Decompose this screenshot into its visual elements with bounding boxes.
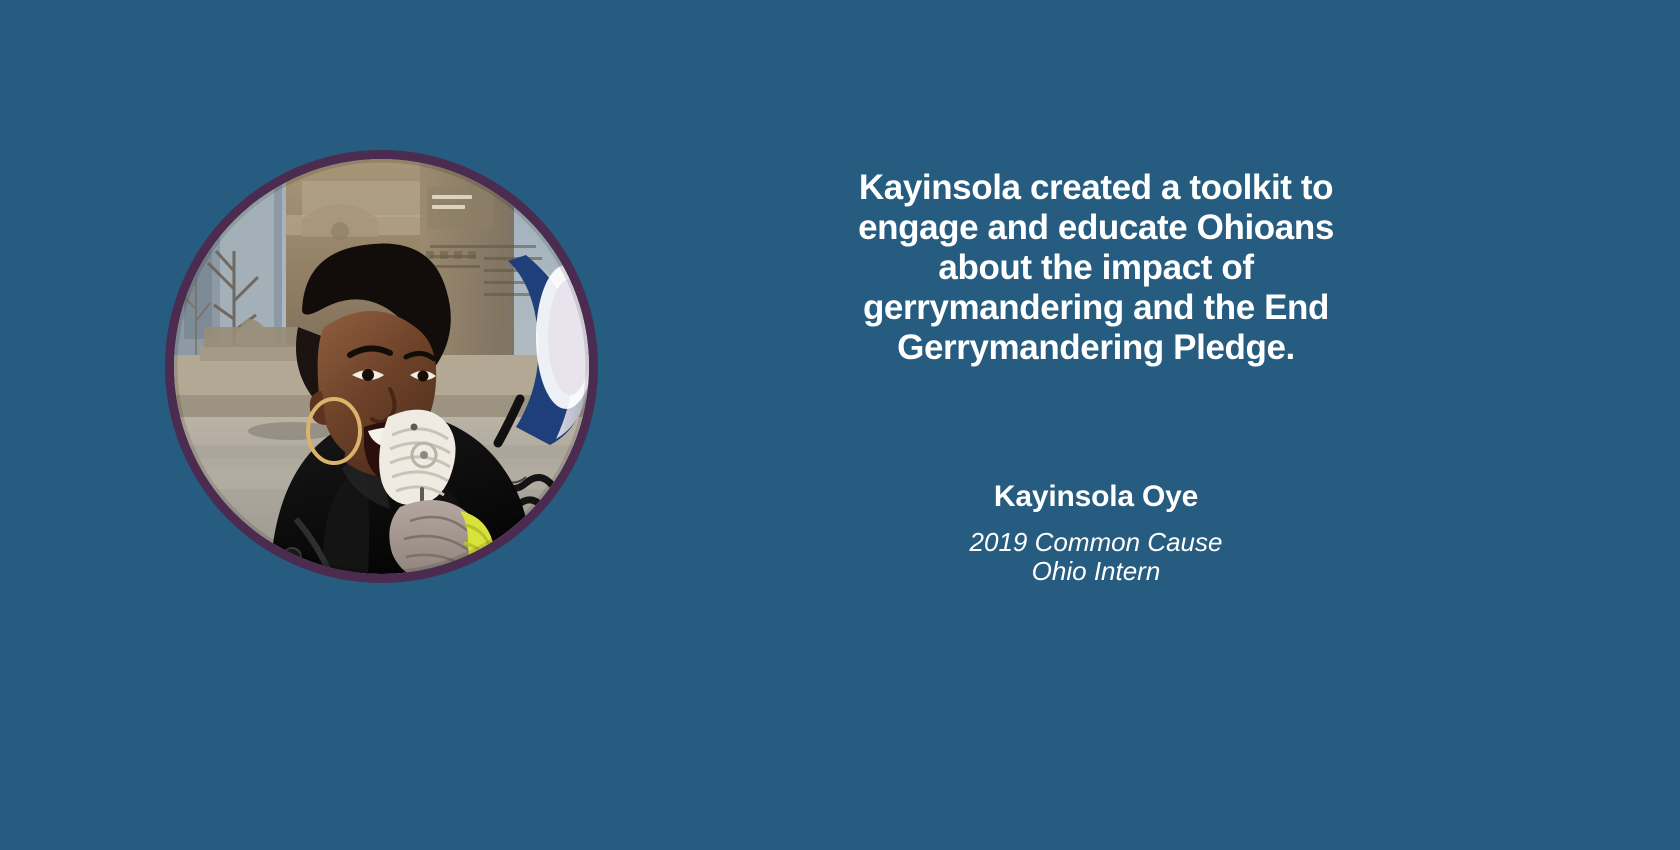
- quote-block: Kayinsola created a toolkit to engage an…: [800, 168, 1392, 368]
- attribution-role: 2019 Common Cause Ohio Intern: [800, 528, 1392, 586]
- testimonial-slide: Kayinsola created a toolkit to engage an…: [0, 0, 1680, 850]
- portrait-photo: [174, 159, 589, 574]
- quote-text: Kayinsola created a toolkit to engage an…: [800, 168, 1392, 368]
- attribution-block: Kayinsola Oye 2019 Common Cause Ohio Int…: [800, 478, 1392, 586]
- portrait-figure: [165, 150, 598, 583]
- attribution-name: Kayinsola Oye: [800, 478, 1392, 516]
